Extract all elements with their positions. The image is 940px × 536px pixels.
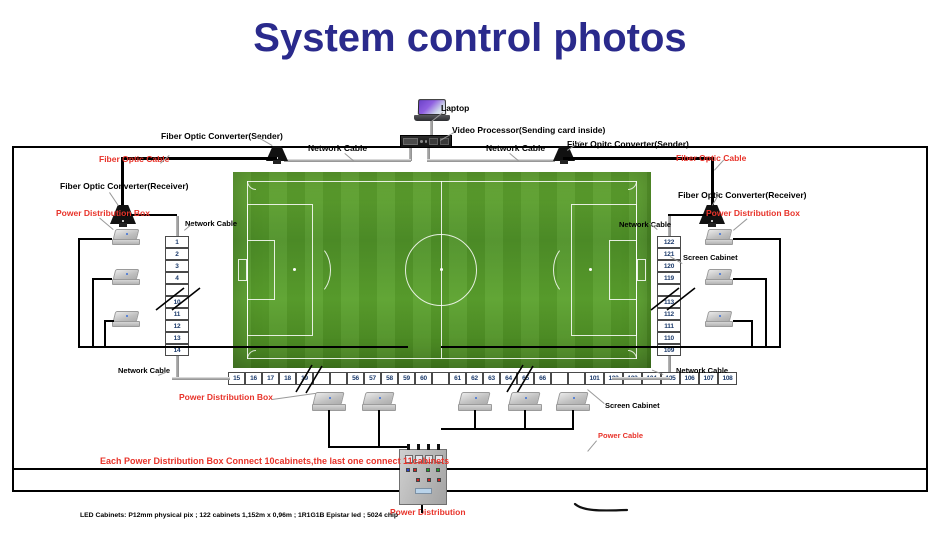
network-cable-label-top-right: Network Cable bbox=[486, 143, 545, 153]
pdb-led bbox=[329, 397, 331, 399]
pdb-right-stub-2 bbox=[733, 278, 767, 280]
cabinet-strip-left-bottom-cable bbox=[176, 356, 179, 378]
pdb-left-stub-1 bbox=[78, 238, 112, 240]
power-distribution-box bbox=[112, 229, 140, 246]
video-processor-label: Video Processor(Sending card inside) bbox=[452, 125, 605, 135]
pdb-bottom-drop-4 bbox=[524, 410, 526, 430]
pdb-left-bus bbox=[78, 346, 408, 348]
cabinet-cell: 59 bbox=[398, 372, 415, 385]
converter-foot bbox=[119, 223, 127, 227]
converter-foot bbox=[560, 160, 568, 164]
power-distribution-label: Power Distribution bbox=[390, 507, 466, 517]
cabinet-cell: 101 bbox=[585, 372, 604, 385]
network-cable-label-top-left: Network Cable bbox=[308, 143, 367, 153]
power-distribution-box-label-right: Power Distribution Box bbox=[706, 208, 800, 218]
network-cable-left-vertical bbox=[176, 216, 179, 236]
indicator-light-green bbox=[426, 468, 430, 472]
goal-right bbox=[637, 259, 646, 281]
pdb-right-stub-1 bbox=[733, 238, 781, 240]
indicator-light-red bbox=[416, 478, 420, 482]
pdb-bottom-drop-2 bbox=[378, 410, 380, 448]
cabinet-cell: 119 bbox=[657, 272, 681, 284]
cabinet-cell: 58 bbox=[381, 372, 398, 385]
cabinet-cell: 10 bbox=[165, 296, 189, 308]
pdb-connection-note: Each Power Distribution Box Connect 10ca… bbox=[100, 456, 449, 466]
pdb-led bbox=[126, 315, 128, 317]
power-distribution-box bbox=[705, 229, 733, 246]
cabinet-cell: 16 bbox=[245, 372, 262, 385]
cabinet-cell-blank bbox=[551, 372, 568, 385]
football-field-image bbox=[233, 172, 651, 368]
pdb-led bbox=[475, 397, 477, 399]
cabinet-cell: 15 bbox=[228, 372, 245, 385]
power-distribution-box bbox=[458, 392, 492, 412]
pdb-right-bus bbox=[441, 346, 781, 348]
indicator-light-blue bbox=[406, 468, 410, 472]
converter-led bbox=[711, 220, 713, 222]
network-cable-top-left bbox=[284, 159, 411, 162]
led-cabinet-footer-note: LED Cabinets: P12mm physical pix ; 122 c… bbox=[80, 512, 398, 519]
pdb-right-feed-3 bbox=[751, 320, 753, 348]
pdb-led bbox=[719, 273, 721, 275]
cabinet-cell: 3 bbox=[165, 260, 189, 272]
network-cable-bottom-right-run bbox=[612, 377, 670, 380]
cabinet-cell: 1 bbox=[165, 236, 189, 248]
cabinet-cell: 66 bbox=[534, 372, 551, 385]
pdb-right-feed-2 bbox=[765, 278, 767, 348]
cabinet-cell: 112 bbox=[657, 308, 681, 320]
pdb-base bbox=[705, 279, 733, 285]
pdb-led bbox=[719, 315, 721, 317]
power-distribution-box-label-left: Power Distribution Box bbox=[56, 208, 150, 218]
cabinet-cell-blank bbox=[657, 284, 681, 296]
pdb-base bbox=[705, 239, 733, 245]
video-processor-knob bbox=[420, 140, 423, 143]
cabinet-top-stub bbox=[427, 444, 430, 450]
video-processor-display bbox=[403, 138, 418, 145]
pdb-bottom-drop-5 bbox=[572, 410, 574, 430]
cabinet-cell: 18 bbox=[279, 372, 296, 385]
pdb-bottom-drop-1 bbox=[328, 410, 330, 448]
cabinet-cell: 64 bbox=[500, 372, 517, 385]
cabinet-cell: 61 bbox=[449, 372, 466, 385]
network-cable-top-right bbox=[427, 159, 555, 162]
power-cable-label: Power Cable bbox=[598, 431, 643, 440]
pdb-led bbox=[525, 397, 527, 399]
power-distribution-box bbox=[705, 311, 733, 328]
cabinet-left-feed bbox=[12, 468, 400, 470]
pdb-led bbox=[126, 273, 128, 275]
goal-area-left bbox=[247, 240, 275, 300]
cabinet-top-stub bbox=[407, 444, 410, 450]
indicator-light-red bbox=[437, 478, 441, 482]
power-distribution-box bbox=[362, 392, 396, 412]
cabinet-cell: 4 bbox=[165, 272, 189, 284]
cabinet-cell-blank bbox=[432, 372, 449, 385]
diagram-canvas: System control photos Laptop bbox=[0, 0, 940, 536]
page-title: System control photos bbox=[0, 16, 940, 61]
fiber-converter-receiver-left-label: Fiber Optic Converter(Receiver) bbox=[60, 181, 188, 191]
goal-area-right bbox=[609, 240, 637, 300]
cabinet-cell: 57 bbox=[364, 372, 381, 385]
cabinet-cell-blank bbox=[330, 372, 347, 385]
laptop-label: Laptop bbox=[441, 103, 469, 113]
network-cable-bottom-left-run bbox=[172, 377, 230, 380]
cabinet-strip-right: 122121120119113112111110109 bbox=[657, 236, 681, 356]
power-distribution-box bbox=[112, 311, 140, 328]
pdb-led bbox=[719, 233, 721, 235]
pdb-left-feed-3 bbox=[104, 320, 106, 348]
fiber-converter-sender-left-label: Fiber Optic Converter(Sender) bbox=[161, 131, 283, 141]
cabinet-cell: 110 bbox=[657, 332, 681, 344]
pdb-bottom-bus-right bbox=[441, 428, 574, 430]
cabinet-cell: 60 bbox=[415, 372, 432, 385]
penalty-arc-left bbox=[295, 244, 331, 296]
converter-foot bbox=[708, 223, 716, 227]
cabinet-strip-left: 12341011121314 bbox=[165, 236, 189, 356]
cabinet-cell: 13 bbox=[165, 332, 189, 344]
cabinet-cell-blank bbox=[165, 284, 189, 296]
converter-foot bbox=[273, 160, 281, 164]
cabinet-cell-blank bbox=[568, 372, 585, 385]
power-distribution-box-label-bottom: Power Distribution Box bbox=[179, 392, 273, 402]
goal-left bbox=[238, 259, 247, 281]
laptop-to-processor-cable bbox=[430, 121, 433, 136]
converter-led bbox=[122, 220, 124, 222]
cabinet-cell: 2 bbox=[165, 248, 189, 260]
cabinet-nameplate bbox=[415, 488, 432, 494]
indicator-light-red bbox=[413, 468, 417, 472]
cabinet-cell: 111 bbox=[657, 320, 681, 332]
pdb-right-stub-3 bbox=[733, 320, 753, 322]
pdb-led bbox=[379, 397, 381, 399]
pdb-right-feed-1 bbox=[779, 238, 781, 348]
cabinet-cell: 11 bbox=[165, 308, 189, 320]
pdb-left-feed-1 bbox=[78, 238, 80, 348]
indicator-light-red bbox=[427, 478, 431, 482]
video-processor-panel bbox=[429, 138, 438, 145]
power-distribution-box bbox=[556, 392, 590, 412]
cabinet-cell: 56 bbox=[347, 372, 364, 385]
cabinet-cell: 121 bbox=[657, 248, 681, 260]
power-distribution-box bbox=[312, 392, 346, 412]
penalty-spot-right bbox=[589, 268, 592, 271]
cabinet-cell: 113 bbox=[657, 296, 681, 308]
network-cable-label-right-lower: Network Cable bbox=[676, 366, 728, 375]
cabinet-bottom-drop bbox=[421, 505, 423, 513]
cabinet-cell: 19 bbox=[296, 372, 313, 385]
pdb-led bbox=[573, 397, 575, 399]
pdb-led bbox=[126, 233, 128, 235]
field-marker-squiggle bbox=[573, 502, 629, 512]
cabinet-top-stub bbox=[437, 444, 440, 450]
cabinet-cell: 17 bbox=[262, 372, 279, 385]
field-center-spot bbox=[440, 268, 443, 271]
cabinet-cell: 62 bbox=[466, 372, 483, 385]
power-distribution-box bbox=[112, 269, 140, 286]
pdb-left-stub-2 bbox=[92, 278, 112, 280]
cabinet-cell-blank bbox=[313, 372, 330, 385]
pdb-bottom-bus-left bbox=[328, 446, 408, 448]
pdb-base bbox=[112, 239, 140, 245]
pdb-base bbox=[112, 279, 140, 285]
indicator-light-green bbox=[436, 468, 440, 472]
network-cable-label-right-upper: Network Cable bbox=[619, 220, 671, 229]
cabinet-cell: 65 bbox=[517, 372, 534, 385]
fiber-converter-sender-left-icon bbox=[266, 146, 288, 164]
pdb-base bbox=[705, 321, 733, 327]
screen-cabinet-label-right: Screen Cabinet bbox=[683, 253, 738, 262]
cabinet-cell: 122 bbox=[657, 236, 681, 248]
cabinet-cell: 63 bbox=[483, 372, 500, 385]
pdb-base bbox=[112, 321, 140, 327]
cabinet-right-feed bbox=[447, 468, 928, 470]
fiber-converter-sender-right-label: Fiber Opitc Converter(Sender) bbox=[567, 139, 689, 149]
fiber-optic-cable-label-right: Fiber Optic Cable bbox=[676, 153, 746, 163]
cabinet-cell: 12 bbox=[165, 320, 189, 332]
network-cable-label-left-upper: Network Cable bbox=[185, 219, 237, 228]
screen-cabinet-label-bottom: Screen Cabinet bbox=[605, 401, 660, 410]
power-distribution-box bbox=[508, 392, 542, 412]
penalty-arc-right bbox=[553, 244, 589, 296]
pdb-left-stub-3 bbox=[104, 320, 114, 322]
video-processor-knob bbox=[425, 140, 428, 143]
pdb-left-feed-2 bbox=[92, 278, 94, 348]
fiber-converter-receiver-right-label: Fiber Optic Converter(Receiver) bbox=[678, 190, 806, 200]
cabinet-top-stub bbox=[417, 444, 420, 450]
power-distribution-box bbox=[705, 269, 733, 286]
pdb-bottom-drop-3 bbox=[474, 410, 476, 430]
